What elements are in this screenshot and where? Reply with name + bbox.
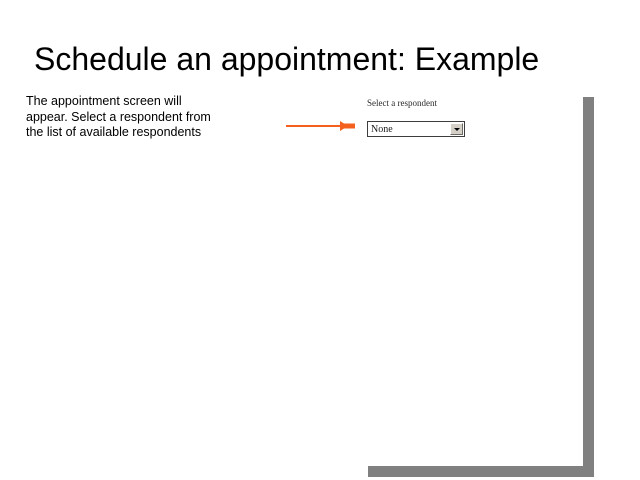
body-text: The appointment screen will appear. Sele…	[26, 94, 251, 141]
page-title: Schedule an appointment: Example	[34, 40, 614, 78]
chevron-down-icon[interactable]	[450, 123, 463, 135]
respondent-dropdown-value: None	[368, 124, 393, 135]
respondent-dropdown[interactable]: None	[367, 121, 465, 137]
respondent-selector-capture: Select a respondent None	[366, 98, 437, 109]
respondent-dropdown-label: Select a respondent	[367, 98, 437, 109]
chevron-down-glyph	[454, 128, 460, 131]
arrow-right-icon	[284, 117, 360, 135]
slide-canvas: Schedule an appointment: Example The app…	[0, 0, 640, 480]
body-text-line: appear. Select a respondent from	[26, 110, 251, 126]
frame-shadow-horizontal	[368, 466, 594, 477]
body-text-line: The appointment screen will	[26, 94, 251, 110]
frame-shadow-vertical	[583, 97, 594, 466]
body-text-line: the list of available respondents	[26, 125, 251, 141]
